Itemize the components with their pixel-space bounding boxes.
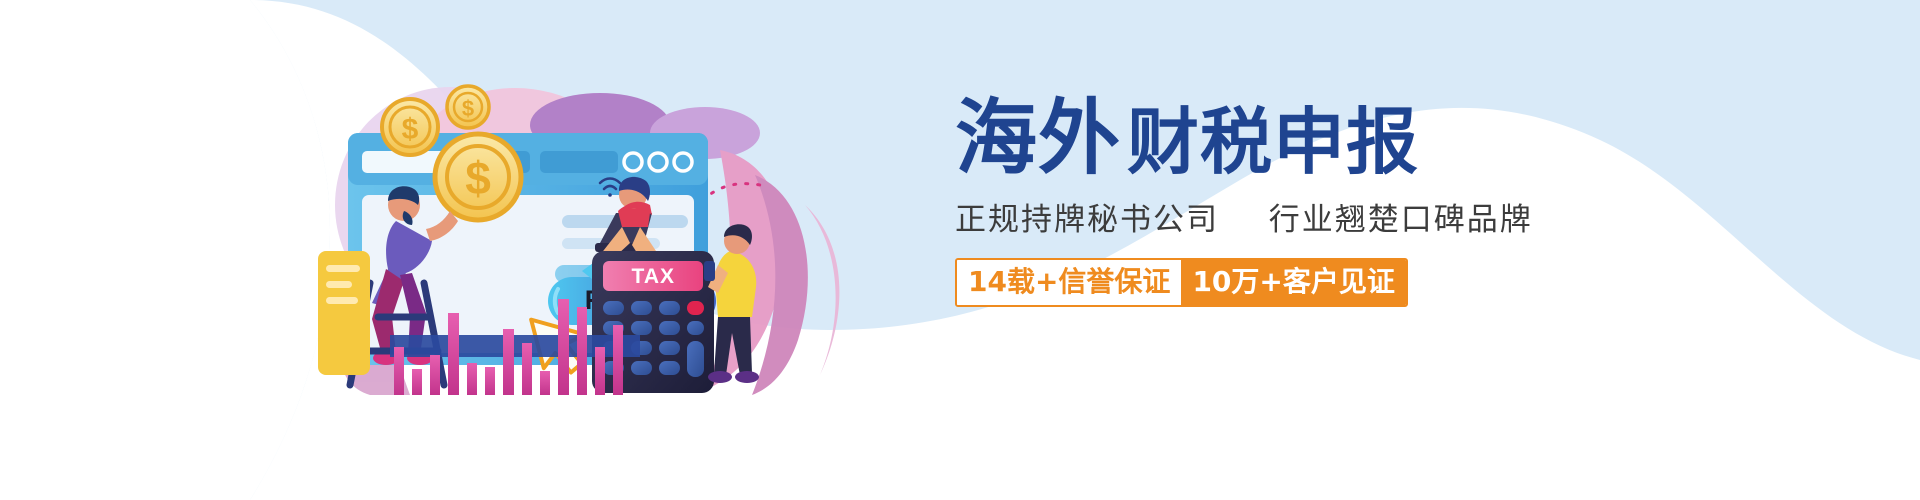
coin-dollar-symbol: $ bbox=[462, 96, 474, 121]
subtitle: 正规持牌秘书公司 行业翘楚口碑品牌 bbox=[955, 194, 1675, 239]
calculator-key-red bbox=[687, 301, 704, 315]
coin-large: $ bbox=[435, 134, 521, 220]
headline-part-one: 海外 bbox=[955, 100, 1121, 178]
subtitle-right: 行业翘楚口碑品牌 bbox=[1269, 202, 1533, 238]
badge-group: 14载+信誉保证 10万+客户见证 bbox=[955, 258, 1408, 307]
badge-credibility: 14载+信誉保证 bbox=[957, 260, 1181, 305]
coin-dollar-symbol: $ bbox=[402, 113, 419, 146]
headline: 海外 财税申报 bbox=[955, 76, 1675, 178]
badge-customers: 10万+客户见证 bbox=[1181, 260, 1405, 305]
coin-small-1: $ bbox=[382, 99, 438, 155]
document-folder bbox=[318, 251, 370, 375]
calculator-display-label: TAX bbox=[632, 265, 675, 288]
subtitle-left: 正规持牌秘书公司 bbox=[955, 202, 1219, 238]
tax-illustration: FILING $ $ $ bbox=[300, 55, 860, 395]
calculator: TAX bbox=[592, 251, 714, 393]
calculator-key-tall bbox=[687, 341, 704, 377]
headline-part-two: 财税申报 bbox=[1127, 108, 1419, 176]
coin-small-2: $ bbox=[447, 86, 489, 128]
coin-dollar-symbol: $ bbox=[465, 152, 491, 204]
promo-banner: FILING $ $ $ bbox=[0, 0, 1920, 500]
phone-icon bbox=[704, 261, 715, 281]
promo-text-block: 海外 财税申报 正规持牌秘书公司 行业翘楚口碑品牌 14载+信誉保证 10万+客… bbox=[955, 76, 1675, 307]
